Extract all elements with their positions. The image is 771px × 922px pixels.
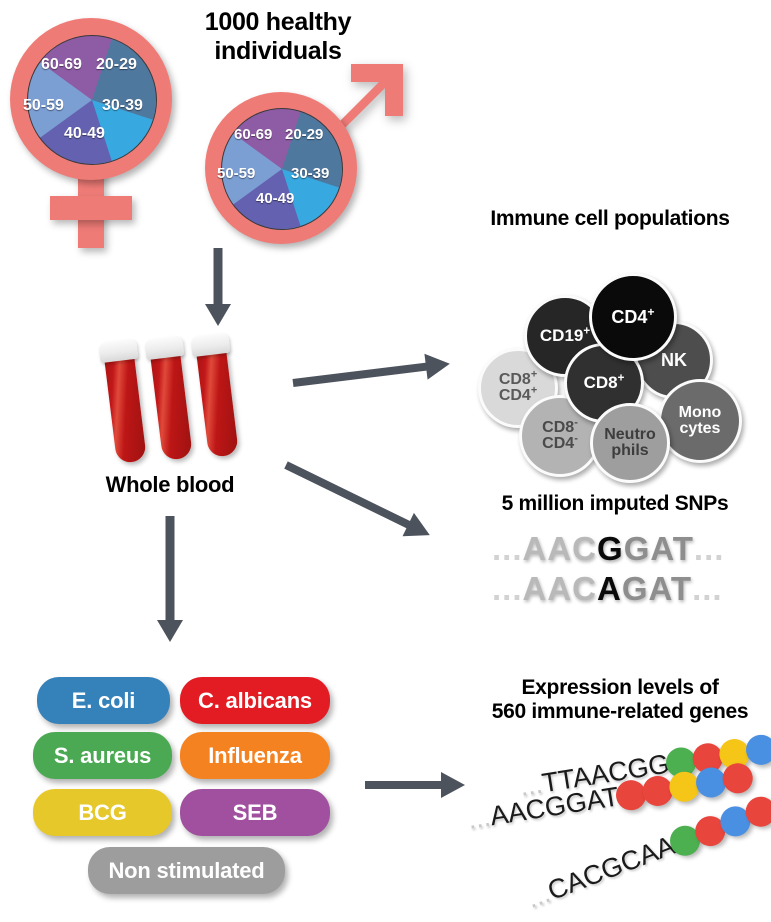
cohort-title-line1: 1000 healthy xyxy=(178,8,378,37)
strand-bases: CACGCAA xyxy=(543,830,678,906)
stimulus-label: BCG xyxy=(78,800,126,826)
arrow-shaft xyxy=(365,781,445,789)
female-stem-cross xyxy=(50,196,132,220)
expression-title: Expression levels of 560 immune-related … xyxy=(470,676,770,724)
snp-prefix: ... xyxy=(492,530,523,568)
stimulus-seb[interactable]: SEB xyxy=(180,789,330,836)
blood-tubes xyxy=(110,336,280,466)
arrow-shaft xyxy=(214,248,223,306)
cell-label: CD19+ xyxy=(540,327,590,344)
stimulus-non-stimulated[interactable]: Non stimulated xyxy=(88,847,285,894)
expression-title-line2: 560 immune-related genes xyxy=(470,700,770,724)
tube-body xyxy=(103,349,146,464)
arrow-blood-to-stimuli xyxy=(150,516,190,646)
arrow-head xyxy=(157,620,183,642)
cell-label: NK xyxy=(661,351,687,369)
arrow-head xyxy=(403,513,436,547)
snp-right: GAT xyxy=(624,530,694,568)
whole-blood-label: Whole blood xyxy=(60,472,280,497)
tube-body xyxy=(149,346,192,461)
stimulus-label: Non stimulated xyxy=(108,858,264,884)
snp-sequence-row: ...AACAGAT... xyxy=(492,570,723,608)
arrow-blood-to-immune xyxy=(291,351,453,396)
stimulus-label: C. albicans xyxy=(198,688,312,714)
arrow-shaft xyxy=(293,362,431,387)
cell-label: CD4+ xyxy=(611,308,654,326)
snp-left: AAC xyxy=(523,530,598,568)
stimulus-c-albicans[interactable]: C. albicans xyxy=(180,677,330,724)
stimulus-label: S. aureus xyxy=(54,743,151,769)
stimulus-bcg[interactable]: BCG xyxy=(33,789,172,836)
arrow-shaft xyxy=(284,461,413,530)
snp-sequence-row: ...AACGGAT... xyxy=(492,530,724,568)
tube-body xyxy=(195,343,238,458)
cell-monocytes: Monocytes xyxy=(658,379,742,463)
blood-tube xyxy=(194,333,240,466)
cell-label: CD8-CD4- xyxy=(542,420,578,453)
snp-left: AAC xyxy=(523,570,598,608)
stimulus-label: E. coli xyxy=(72,688,135,714)
snp-variant: G xyxy=(597,530,624,568)
stimulus-s-aureus[interactable]: S. aureus xyxy=(33,732,172,779)
female-symbol: 20-29 30-39 40-49 50-59 60-69 xyxy=(10,18,190,248)
arrow-head xyxy=(441,772,465,798)
stimulus-e-coli[interactable]: E. coli xyxy=(37,677,170,724)
female-age-pie xyxy=(27,35,157,165)
snp-variant: A xyxy=(597,570,622,608)
arrow-head xyxy=(205,304,231,326)
cell-label: CD8+CD4+ xyxy=(499,372,537,405)
blood-tube xyxy=(148,336,194,469)
cell-label: CD8+ xyxy=(584,374,625,391)
snps-title: 5 million imputed SNPs xyxy=(470,492,760,516)
snp-prefix: ... xyxy=(492,570,523,608)
cell-cd4: CD4+ xyxy=(589,273,677,361)
cell-neutrophils: Neutrophils xyxy=(590,403,670,483)
cell-label: Neutrophils xyxy=(604,427,656,460)
arrow-stimuli-to-expression xyxy=(365,772,485,798)
cell-label: Monocytes xyxy=(679,405,722,438)
expression-title-line1: Expression levels of xyxy=(470,676,770,700)
immune-cell-cluster: CD8+CD4+ CD19+ CD4+ NK CD8+ CD8-CD4- Neu… xyxy=(472,243,762,423)
arrow-blood-to-snps xyxy=(280,453,444,551)
strand-bead xyxy=(720,761,754,795)
snp-right: GAT xyxy=(622,570,692,608)
arrow-shaft xyxy=(166,516,175,622)
stimulus-label: Influenza xyxy=(208,743,302,769)
snp-suffix: ... xyxy=(694,530,725,568)
male-age-pie xyxy=(221,108,343,230)
arrow-cohort-to-blood xyxy=(198,248,238,326)
stimulus-influenza[interactable]: Influenza xyxy=(180,732,330,779)
arrow-head xyxy=(424,351,451,380)
strand-sequence: ...CACGCAA xyxy=(522,830,679,915)
blood-tube xyxy=(102,339,148,472)
male-symbol: 20-29 30-39 40-49 50-59 60-69 xyxy=(205,70,405,250)
snp-suffix: ... xyxy=(692,570,723,608)
stimulus-label: SEB xyxy=(233,800,278,826)
immune-title: Immune cell populations xyxy=(455,207,765,231)
cohort-title: 1000 healthy individuals xyxy=(178,8,378,66)
